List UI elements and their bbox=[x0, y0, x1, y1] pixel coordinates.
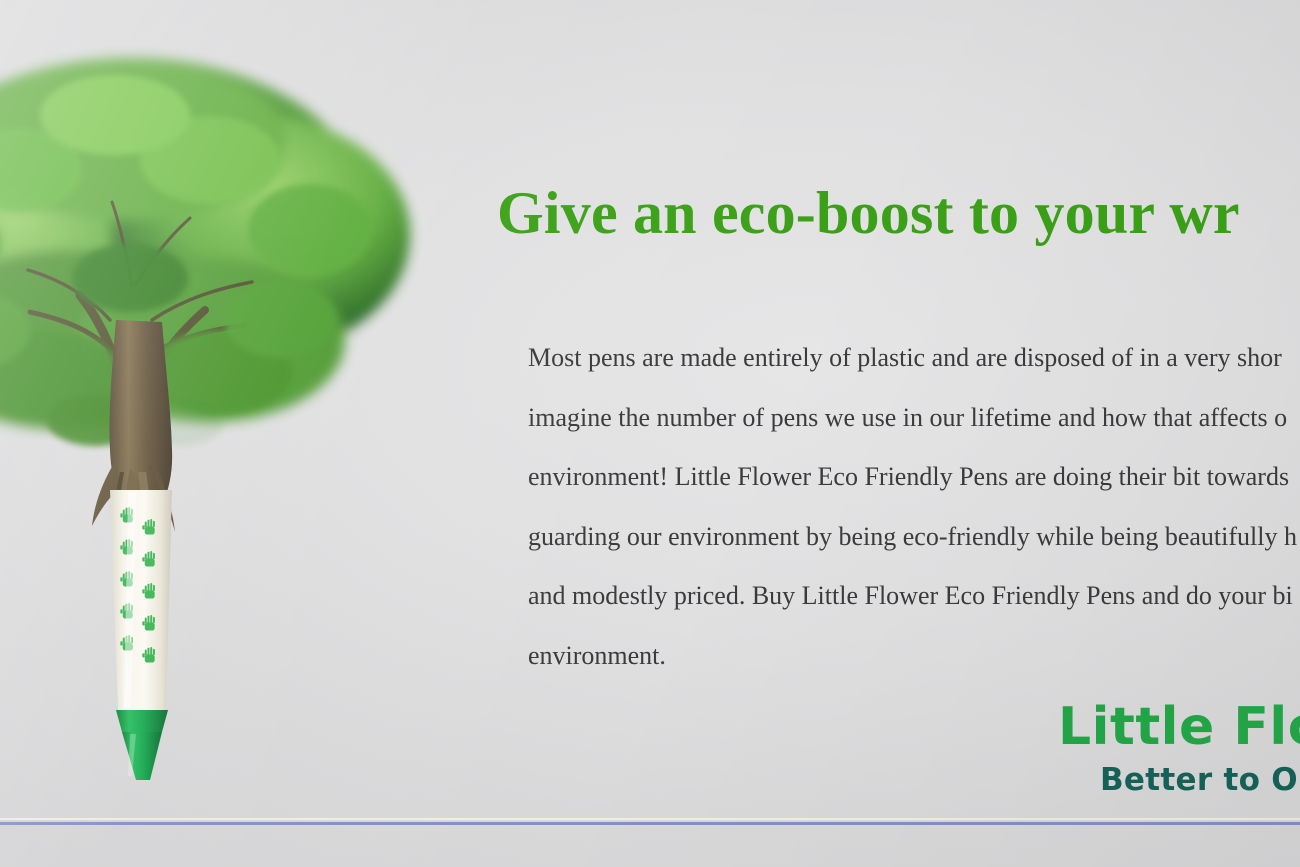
body-line: imagine the number of pens we use in our… bbox=[528, 388, 1300, 448]
eco-pen bbox=[110, 490, 172, 780]
tree-pen-artwork bbox=[0, 20, 440, 780]
bottom-divider bbox=[0, 822, 1300, 825]
body-line: guarding our environment by being eco-fr… bbox=[528, 507, 1300, 567]
body-line: Most pens are made entirely of plastic a… bbox=[528, 328, 1300, 388]
brand-name: Little Flo bbox=[1058, 698, 1300, 756]
brand-tagline: Better to Our bbox=[1100, 760, 1300, 800]
banner-root: Give an eco-boost to your wr Most pens a… bbox=[0, 0, 1300, 867]
body-copy: Most pens are made entirely of plastic a… bbox=[528, 328, 1300, 685]
body-line: and modestly priced. Buy Little Flower E… bbox=[528, 566, 1300, 626]
page-title: Give an eco-boost to your wr bbox=[497, 182, 1240, 245]
body-line: environment. bbox=[528, 626, 1300, 686]
pen-tip bbox=[116, 710, 168, 780]
body-line: environment! Little Flower Eco Friendly … bbox=[528, 447, 1300, 507]
brand-logo: Little Flo Better to Our bbox=[1058, 698, 1300, 800]
bottom-rule-highlight bbox=[0, 818, 1300, 820]
